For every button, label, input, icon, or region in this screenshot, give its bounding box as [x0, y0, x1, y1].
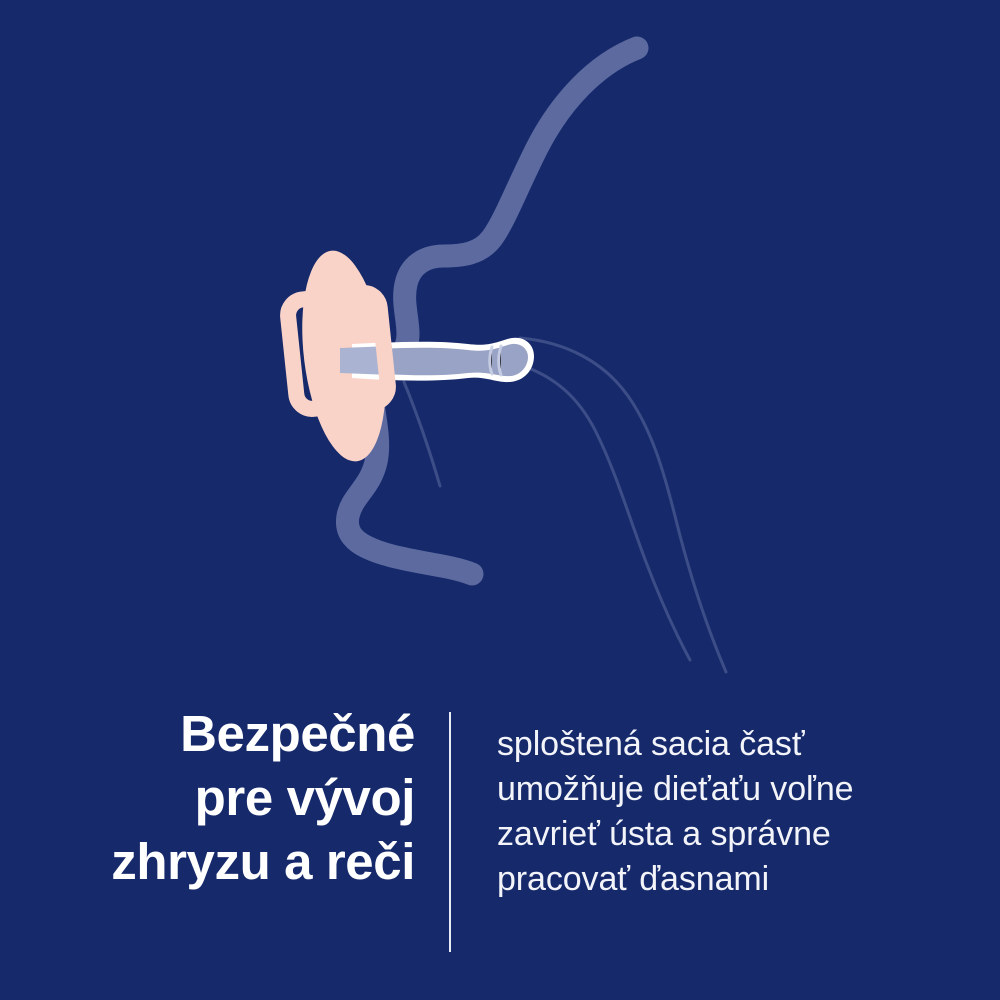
headline-line-1: Bezpečné: [40, 702, 415, 766]
pacifier-teat: [340, 338, 534, 382]
body-copy-line-3: zavrieť ústa a správne: [497, 812, 957, 857]
headline-line-3: zhryzu a reči: [40, 830, 415, 894]
body-copy: sploštená sacia časť umožňuje dieťaťu vo…: [497, 722, 957, 902]
headline-line-2: pre vývoj: [40, 766, 415, 830]
page-title: Bezpečné pre vývoj zhryzu a reči: [40, 702, 415, 894]
promo-poster: Bezpečné pre vývoj zhryzu a reči splošte…: [0, 0, 1000, 1000]
illustration-area: [0, 0, 1000, 700]
body-copy-line-1: sploštená sacia časť: [497, 722, 957, 767]
inner-mouth-line: [392, 338, 726, 672]
vertical-divider: [449, 712, 451, 952]
caption-block: Bezpečné pre vývoj zhryzu a reči splošte…: [0, 690, 1000, 1000]
body-copy-line-4: pracovať ďasnami: [497, 857, 957, 902]
face-profile-line: [386, 48, 637, 372]
body-copy-line-2: umožňuje dieťaťu voľne: [497, 767, 957, 812]
